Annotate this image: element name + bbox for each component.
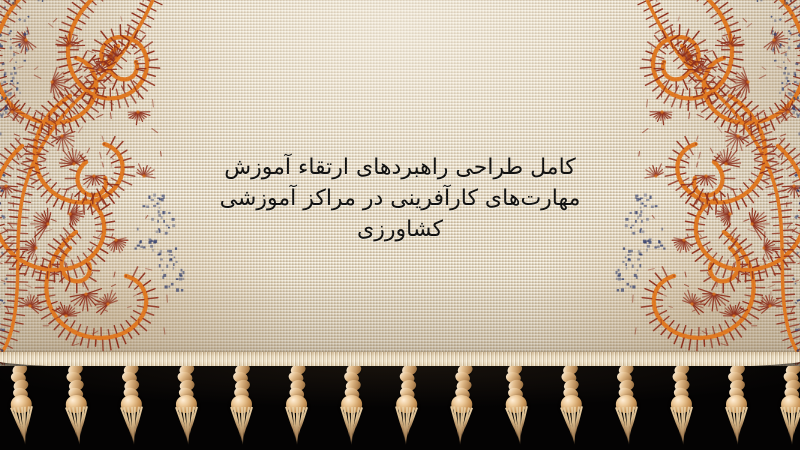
tassel <box>719 366 753 450</box>
tassel-skirt <box>503 406 533 448</box>
tassel <box>663 366 698 450</box>
tassel <box>278 366 313 450</box>
tassel-skirt <box>445 406 475 448</box>
tassel-skirt <box>8 406 38 448</box>
tassel <box>333 366 370 450</box>
tassel-skirt <box>228 407 255 447</box>
tassel <box>773 366 800 450</box>
title-line-3: کشاورزی <box>0 214 800 245</box>
tassel-skirt <box>613 407 641 448</box>
tassel <box>552 366 590 450</box>
tassel <box>441 366 481 450</box>
tassel-skirt <box>558 406 587 447</box>
tassel <box>1 366 41 450</box>
tassel <box>168 366 203 450</box>
tassel <box>224 366 258 450</box>
tassel-skirt <box>668 407 696 447</box>
tassel-skirt <box>777 407 800 447</box>
title-line-1: کامل طراحی راهبردهای ارتقاء آموزش <box>0 152 800 183</box>
tassel-skirt <box>118 407 146 448</box>
tassel-skirt <box>391 406 420 447</box>
tassel <box>387 366 425 450</box>
tassel-skirt <box>723 407 750 447</box>
tassel <box>496 366 536 450</box>
tassel-skirt <box>337 407 365 448</box>
tassel-skirt <box>173 407 201 447</box>
tassel <box>57 366 95 450</box>
slide-canvas: کامل طراحی راهبردهای ارتقاء آموزش مهارت‌… <box>0 0 800 450</box>
tassel-skirt <box>282 407 310 447</box>
title-line-2: مهارت‌های کارآفرینی در مراکز آموزشی <box>0 183 800 214</box>
tassel <box>608 366 645 450</box>
tassel <box>113 366 150 450</box>
tassel-fringe-band <box>0 366 800 450</box>
slide-title: کامل طراحی راهبردهای ارتقاء آموزش مهارت‌… <box>0 152 800 245</box>
tassel-skirt <box>63 406 92 447</box>
